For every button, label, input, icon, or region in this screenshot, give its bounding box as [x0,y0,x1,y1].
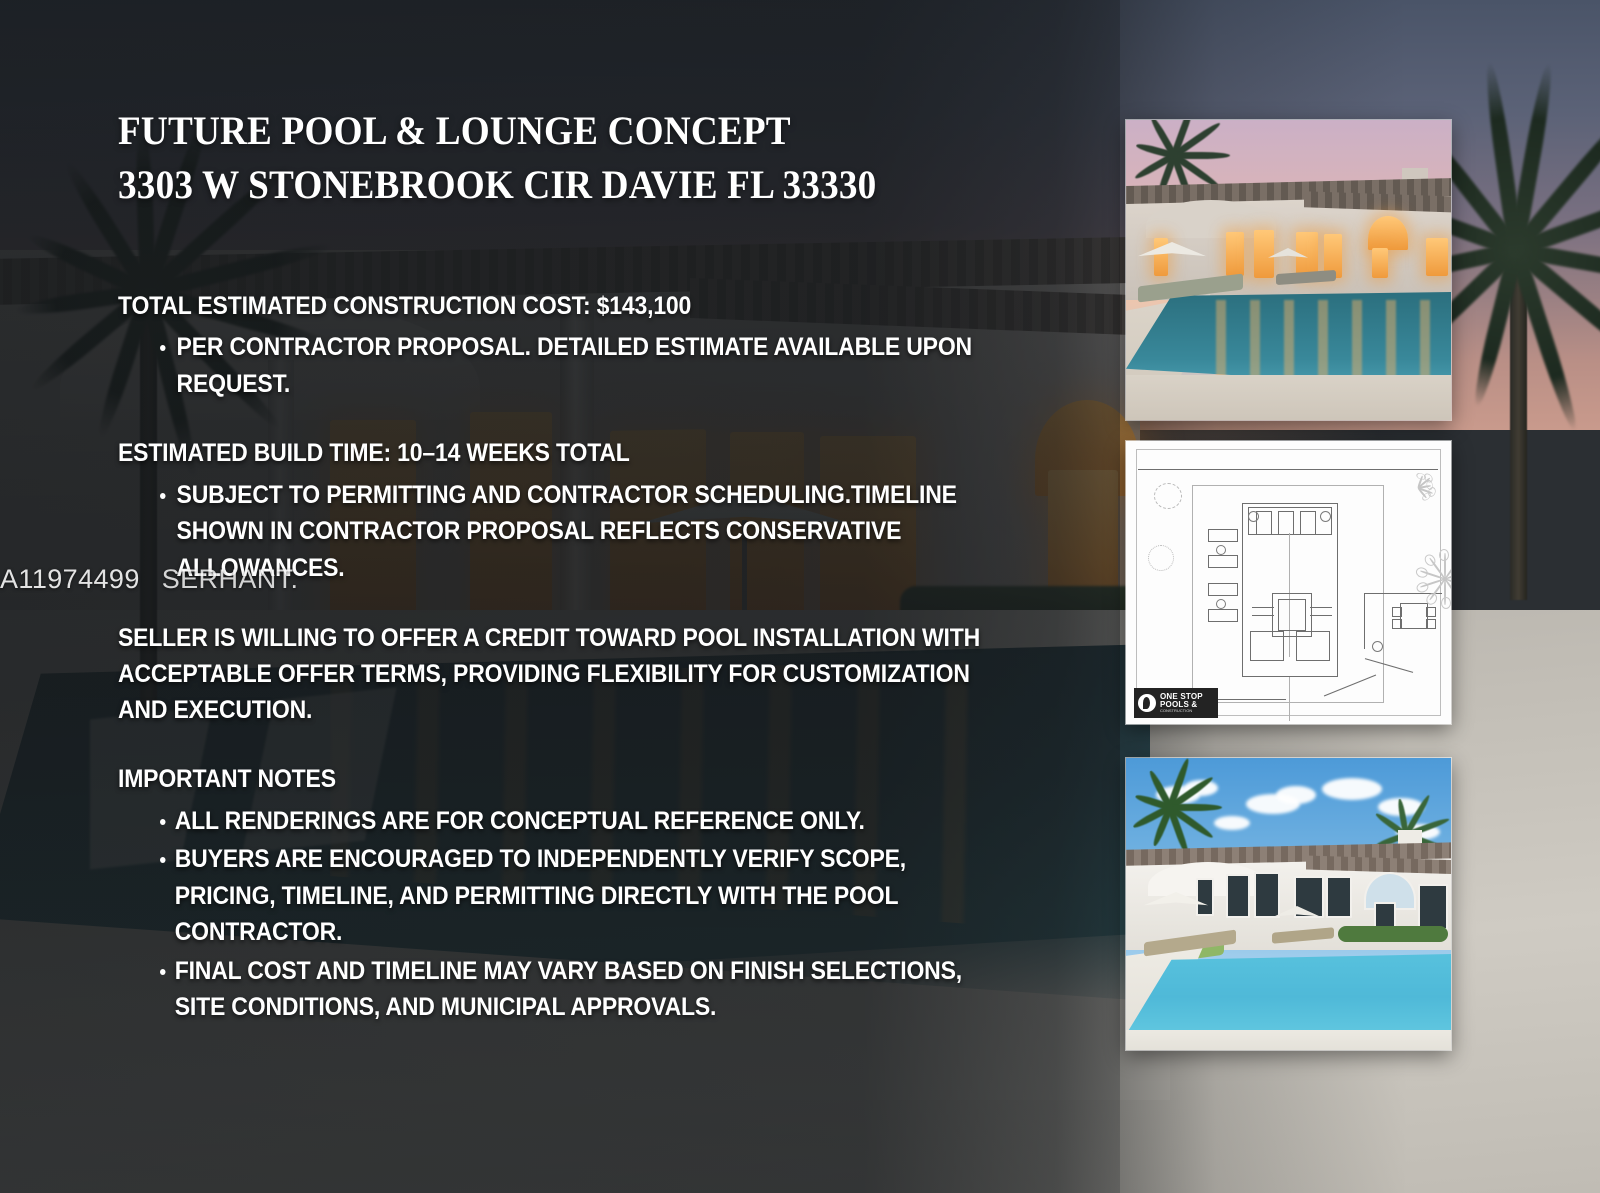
cloud [1322,778,1382,800]
spa-inner [1278,599,1306,631]
window [1326,876,1352,918]
step-detail [1250,631,1284,661]
side-table-plan [1216,599,1226,609]
window [1418,884,1448,930]
lit-window [1154,238,1168,276]
patio-chair-plan [1426,619,1436,629]
lit-window [1254,230,1274,278]
lounge-chair-plan [1208,583,1238,596]
bullet-list: PER CONTRACTOR PROPOSAL. DETAILED ESTIMA… [118,329,1078,402]
section-heading: ESTIMATED BUILD TIME: 10–14 WEEKS TOTAL [118,436,1001,471]
plan-symbol [1248,511,1259,522]
list-item: PER CONTRACTOR PROPOSAL. DETAILED ESTIMA… [160,329,1005,402]
shrub-plan [1154,483,1182,509]
shrub-plan [1148,545,1174,571]
window [1196,878,1214,916]
headline-line-2: 3303 W STONEBROOK CIR DAVIE FL 33330 [118,158,1011,212]
list-item: BUYERS ARE ENCOURAGED TO INDEPENDENTLY V… [160,841,1005,951]
plan-fixture [1278,511,1294,535]
brokerage-brand: SERHANT. [162,564,299,594]
water-drop-icon [1138,694,1156,712]
window [1226,874,1250,918]
walkway-line [1218,699,1286,700]
palm-canopy-plan [1414,549,1451,609]
plan-symbol [1372,641,1383,652]
section-heading: TOTAL ESTIMATED CONSTRUCTION COST: $143,… [118,289,1001,324]
list-item: FINAL COST AND TIMELINE MAY VARY BASED O… [160,953,1005,1026]
logo-line-3: CONSTRUCTION [1160,709,1203,713]
lounge-chair-plan [1208,529,1238,542]
plan-fixture [1300,511,1316,535]
thumbnail-dusk-pool-rendering[interactable] [1126,120,1451,420]
lit-window [1372,248,1388,278]
one-stop-pools-logo: ONE STOP POOLS & CONSTRUCTION [1134,688,1218,718]
section-seller-credit: SELLER IS WILLING TO OFFER A CREDIT TOWA… [118,620,1078,728]
mls-listing-id: A11974499 [0,564,140,594]
window [1254,872,1280,918]
plan-line [1138,469,1438,470]
plan-line [1310,607,1332,608]
section-construction-cost: TOTAL ESTIMATED CONSTRUCTION COST: $143,… [118,289,1078,403]
plan-line [1252,615,1274,616]
plan-line [1364,593,1365,649]
patio-chair-plan [1392,607,1402,617]
notes-list: ALL RENDERINGS ARE FOR CONCEPTUAL REFERE… [118,803,1078,1026]
credit-paragraph: SELLER IS WILLING TO OFFER A CREDIT TOWA… [118,620,1001,728]
cloud [1276,786,1316,804]
side-table-plan [1216,545,1226,555]
hedge [1338,926,1448,942]
lit-window [1226,232,1244,276]
marketing-flyer: FUTURE POOL & LOUNGE CONCEPT 3303 W STON… [0,0,1600,1193]
notes-heading: IMPORTANT NOTES [118,762,1001,797]
plan-line [1310,615,1332,616]
body-copy: TOTAL ESTIMATED CONSTRUCTION COST: $143,… [118,289,1078,1026]
lit-window [1426,238,1448,276]
plan-symbol [1320,511,1331,522]
plan-line [1252,607,1274,608]
logo-text: ONE STOP POOLS & CONSTRUCTION [1160,693,1203,713]
lounge-chair-plan [1208,609,1238,622]
page-title: FUTURE POOL & LOUNGE CONCEPT 3303 W STON… [118,104,1011,213]
thumbnail-pool-site-plan[interactable]: ONE STOP POOLS & CONSTRUCTION [1126,441,1451,724]
lounge-chair-plan [1208,555,1238,568]
patio-chair-plan [1392,619,1402,629]
tree-canopy-plan [1394,473,1440,503]
pool-reflections [1216,300,1446,380]
centerline [1289,677,1290,721]
thumbnail-daytime-pool-rendering[interactable] [1126,758,1451,1050]
mls-watermark: A11974499SERHANT. [0,564,298,595]
palm-tree-icon [1132,776,1222,846]
section-important-notes: IMPORTANT NOTES ALL RENDERINGS ARE FOR C… [118,762,1078,1026]
headline-line-1: FUTURE POOL & LOUNGE CONCEPT [118,108,791,153]
foreground-deck [1126,375,1451,420]
foreground-deck [1126,1030,1451,1050]
list-item: ALL RENDERINGS ARE FOR CONCEPTUAL REFERE… [160,803,1005,840]
step-detail [1296,631,1330,661]
